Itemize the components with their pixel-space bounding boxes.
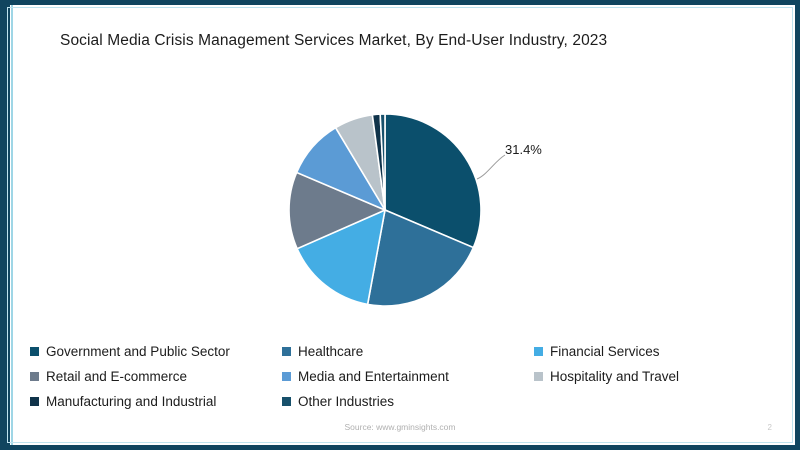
pie-graphic	[288, 113, 482, 307]
page-title: Social Media Crisis Management Services …	[60, 32, 750, 50]
legend-item-healthcare[interactable]: Healthcare	[282, 345, 534, 359]
legend-item-other-industries[interactable]: Other Industries	[282, 395, 534, 409]
legend-item-government-and-public-sector[interactable]: Government and Public Sector	[30, 345, 282, 359]
chart-legend: Government and Public Sector Healthcare …	[30, 345, 770, 420]
legend-swatch-icon	[282, 397, 291, 406]
legend-swatch-icon	[534, 372, 543, 381]
legend-item-label: Healthcare	[298, 345, 363, 359]
legend-item-label: Government and Public Sector	[46, 345, 230, 359]
legend-item-label: Media and Entertainment	[298, 370, 449, 384]
legend-swatch-icon	[30, 397, 39, 406]
legend-swatch-icon	[30, 347, 39, 356]
slide-canvas: Social Media Crisis Management Services …	[0, 0, 800, 450]
legend-item-label: Financial Services	[550, 345, 660, 359]
legend-row: Manufacturing and Industrial Other Indus…	[30, 395, 770, 420]
legend-item-label: Manufacturing and Industrial	[46, 395, 216, 409]
slice-percentage-callout: 31.4%	[505, 142, 542, 157]
legend-item-label: Other Industries	[298, 395, 394, 409]
legend-swatch-icon	[30, 372, 39, 381]
source-caption: Source: www.gminsights.com	[0, 422, 800, 432]
page-number: 2	[768, 423, 772, 432]
legend-row: Retail and E-commerce Media and Entertai…	[30, 370, 770, 395]
legend-swatch-icon	[282, 347, 291, 356]
legend-item-retail-and-e-commerce[interactable]: Retail and E-commerce	[30, 370, 282, 384]
legend-item-hospitality-and-travel[interactable]: Hospitality and Travel	[534, 370, 770, 384]
pie-svg	[288, 113, 482, 307]
legend-item-label: Retail and E-commerce	[46, 370, 187, 384]
legend-swatch-icon	[534, 347, 543, 356]
legend-row: Government and Public Sector Healthcare …	[30, 345, 770, 370]
legend-item-financial-services[interactable]: Financial Services	[534, 345, 770, 359]
legend-swatch-icon	[282, 372, 291, 381]
legend-item-label: Hospitality and Travel	[550, 370, 679, 384]
pie-chart: 31.4%	[0, 75, 800, 325]
legend-item-media-and-entertainment[interactable]: Media and Entertainment	[282, 370, 534, 384]
legend-item-manufacturing-and-industrial[interactable]: Manufacturing and Industrial	[30, 395, 282, 409]
